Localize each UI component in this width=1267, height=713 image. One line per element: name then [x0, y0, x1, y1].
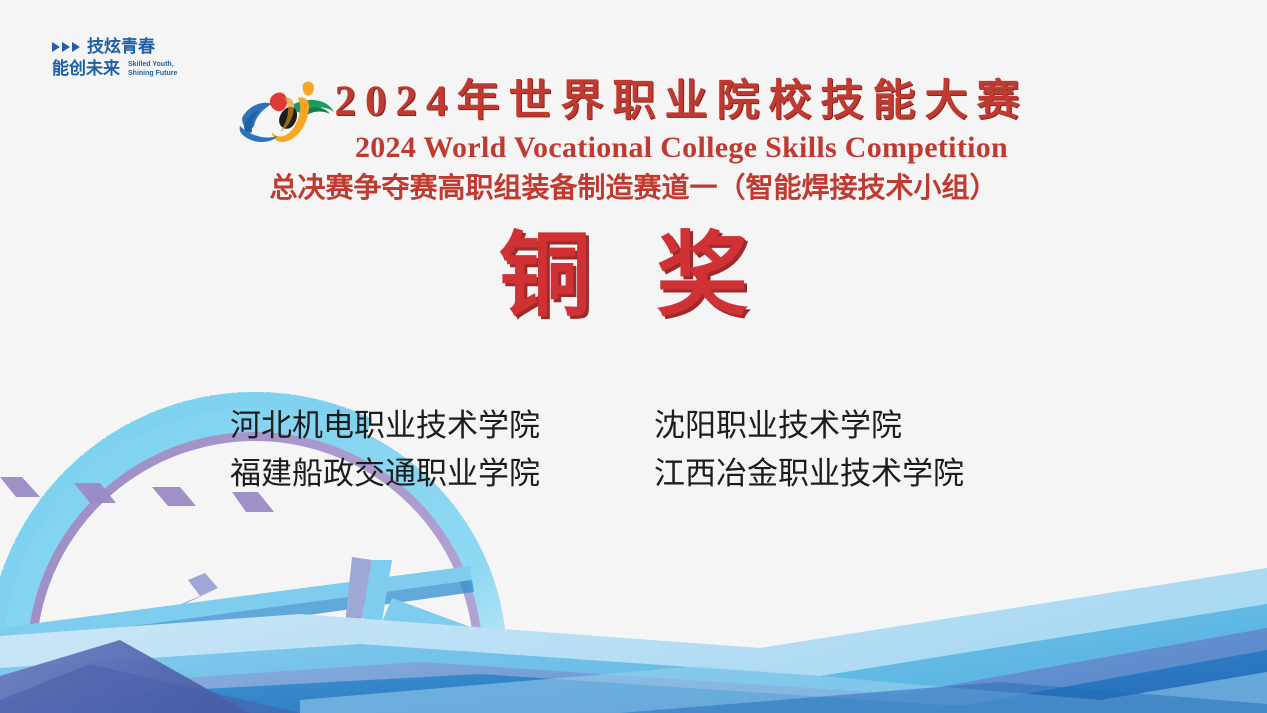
competition-emblem-icon	[232, 74, 338, 152]
page-title-en: 2024 World Vocational College Skills Com…	[0, 130, 1267, 166]
winner-school: 福建船政交通职业学院	[230, 452, 654, 496]
slogan-line-2: 能创未来 Skilled Youth, Shining Future	[52, 58, 212, 80]
winner-school: 河北机电职业技术学院	[230, 404, 654, 448]
competition-slogan-logo: 技炫青春 能创未来 Skilled Youth, Shining Future	[52, 36, 212, 86]
winner-school: 沈阳职业技术学院	[654, 404, 1030, 448]
background-decoration	[0, 0, 1267, 713]
winner-row: 河北机电职业技术学院 沈阳职业技术学院	[230, 404, 1030, 448]
award-title: 铜 奖	[0, 222, 1267, 330]
triple-play-arrow-icon	[52, 42, 80, 52]
header-titles: 2024年世界职业院校技能大赛 2024 World Vocational Co…	[0, 76, 1267, 206]
slogan-english-block: Skilled Youth, Shining Future	[120, 60, 177, 78]
slogan-line-1: 技炫青春	[52, 36, 212, 58]
slogan-line-2-en: Shining Future	[128, 69, 177, 78]
competition-track-subtitle: 总决赛争夺赛高职组装备制造赛道一（智能焊接技术小组）	[0, 172, 1267, 206]
winner-list: 河北机电职业技术学院 沈阳职业技术学院 福建船政交通职业学院 江西冶金职业技术学…	[230, 404, 1030, 500]
winner-row: 福建船政交通职业学院 江西冶金职业技术学院	[230, 452, 1030, 496]
slogan-line-1-en: Skilled Youth,	[128, 60, 177, 69]
winner-school: 江西冶金职业技术学院	[654, 452, 1030, 496]
slogan-line-1-cn: 技炫青春	[87, 37, 155, 57]
slogan-line-2-cn: 能创未来	[52, 59, 120, 79]
award-slide: 技炫青春 能创未来 Skilled Youth, Shining Future …	[0, 0, 1267, 713]
